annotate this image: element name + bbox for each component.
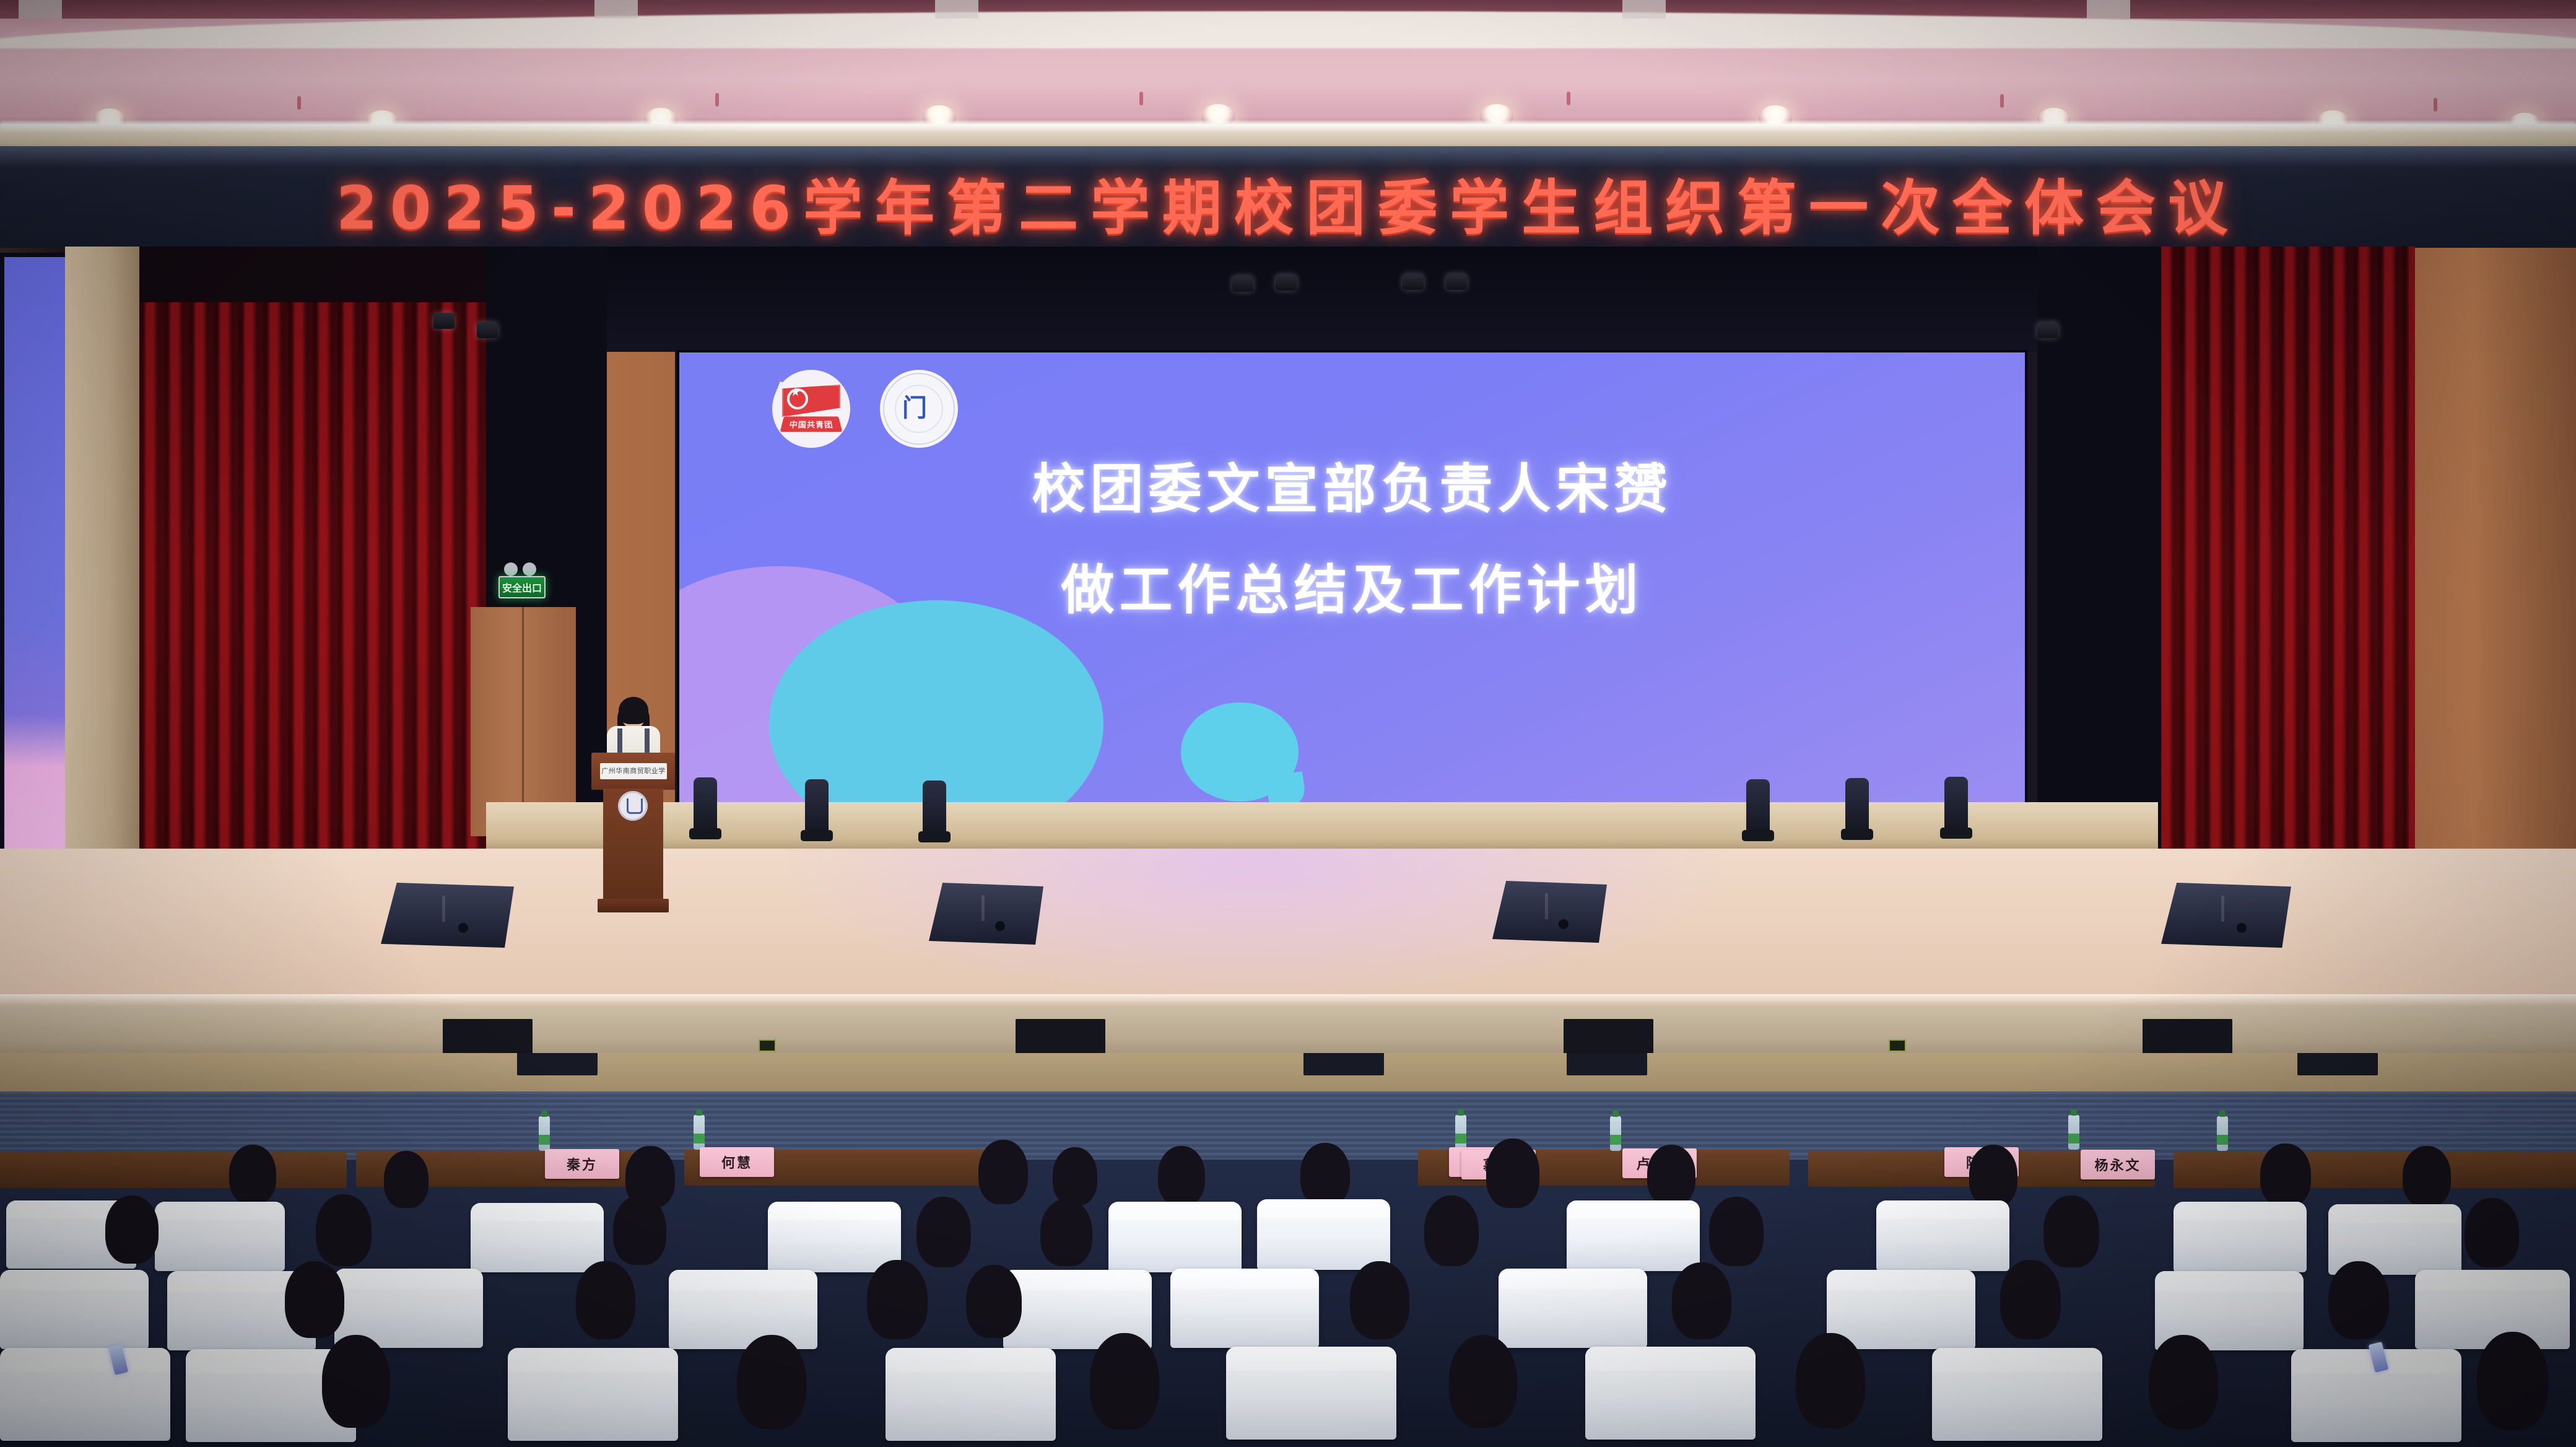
attendee-head <box>1424 1196 1479 1266</box>
truss-spotlight <box>1446 274 1467 290</box>
stage-back-skirt <box>486 802 2158 855</box>
seat-highlight <box>2173 1202 2307 1220</box>
attendee-head <box>316 1194 372 1266</box>
seat-highlight <box>471 1203 604 1221</box>
curtain-header-left <box>139 247 486 302</box>
university-seal-emblem-icon: 门 <box>880 370 958 448</box>
attendee-head <box>1709 1197 1764 1266</box>
attendee-head <box>867 1260 928 1339</box>
bottle-cap <box>2071 1109 2077 1116</box>
stage-monitor-speaker <box>2161 883 2291 948</box>
seat[interactable] <box>1108 1202 1242 1272</box>
wall-acoustic-panel <box>1303 1053 1384 1075</box>
emblem-ribbon-label: 中国共青团 <box>780 419 842 430</box>
apron-power-outlet[interactable] <box>1889 1039 1906 1052</box>
seat-highlight <box>2155 1271 2304 1292</box>
seat-highlight <box>1876 1200 2009 1219</box>
emergency-lamp-icon <box>523 562 536 576</box>
ceiling-fixture <box>297 96 301 110</box>
emergency-lamp-icon <box>504 562 518 576</box>
stage-front-edge <box>0 994 2576 1008</box>
seat[interactable] <box>0 1270 149 1349</box>
attendee-head <box>1672 1262 1731 1339</box>
water-bottle <box>539 1116 550 1151</box>
auditorium-scene: 2025-2026学年第二学期校团委学生组织第一次全体会议 中国共青团 <box>0 0 2576 1447</box>
attendee-head <box>285 1261 344 1338</box>
seat-highlight <box>1585 1347 1756 1371</box>
ceiling-fixture <box>715 93 719 107</box>
star-icon <box>787 388 808 409</box>
seat[interactable] <box>1567 1200 1700 1271</box>
exit-sign: 安全出口 <box>498 576 546 598</box>
seat[interactable] <box>1170 1269 1319 1348</box>
communist-youth-league-emblem-icon: 中国共青团 <box>772 370 850 448</box>
attendee-head <box>2000 1260 2061 1339</box>
attendee-head <box>1053 1147 1097 1205</box>
ceiling-panel <box>19 0 62 19</box>
attendee-head <box>229 1145 276 1204</box>
attendee-head <box>1158 1146 1205 1205</box>
screen-title-line-1: 校团委文宣部负责人宋赟 <box>679 445 2025 523</box>
emergency-light-pair <box>504 562 537 576</box>
seat-highlight <box>885 1348 1056 1372</box>
seat-highlight <box>669 1270 817 1290</box>
podium-base <box>598 899 669 912</box>
attendee-head <box>2043 1196 2099 1267</box>
attendee-head <box>2260 1143 2311 1207</box>
stage-masking-top <box>486 247 2158 352</box>
attendee-head <box>2149 1335 2218 1429</box>
seat-highlight <box>334 1269 483 1289</box>
ceiling-fixture <box>2434 98 2437 111</box>
bottle-cap <box>2219 1111 2226 1117</box>
main-led-display: 中国共青团 门 校团委文宣部负责人宋赟 做工作总结及工作计划 <box>677 350 2027 807</box>
seat[interactable] <box>508 1348 678 1441</box>
speaker-port <box>2237 923 2247 933</box>
name-card: 秦方 <box>545 1149 619 1179</box>
seat[interactable] <box>1585 1347 1756 1440</box>
seat-highlight <box>0 1348 170 1372</box>
attendee-head <box>613 1196 666 1265</box>
attendee-head <box>1350 1261 1409 1339</box>
wall-acoustic-panel <box>1567 1053 1647 1075</box>
attendee-head <box>1090 1333 1159 1430</box>
bottle-cap <box>696 1109 702 1116</box>
speaker-slot <box>1545 893 1548 919</box>
attendee-head <box>978 1140 1028 1204</box>
speaker-port <box>1559 919 1569 929</box>
ceiling-panel <box>1622 0 1666 19</box>
ceiling-fixture <box>1139 92 1143 105</box>
seat[interactable] <box>1226 1347 1396 1440</box>
ceiling-panel <box>935 0 978 19</box>
speaker-slot <box>2221 896 2224 922</box>
seat-highlight <box>2415 1270 2570 1290</box>
seat-highlight <box>508 1348 678 1372</box>
attendee-head <box>1486 1139 1539 1208</box>
banner-title: 2025-2026学年第二学期校团委学生组织第一次全体会议 <box>0 160 2576 246</box>
speaker-hair <box>619 697 648 724</box>
truss-spotlight <box>1276 274 1297 291</box>
podium-university-emblem-icon <box>618 791 648 821</box>
flag-pole-icon <box>775 382 783 394</box>
speaker-port <box>458 923 468 933</box>
lectern-podium: 广州华南商贸职业学院 <box>591 753 675 914</box>
screen-title-block: 校团委文宣部负责人宋赟 做工作总结及工作计划 <box>679 445 2025 624</box>
attendee-head <box>384 1151 429 1208</box>
screen-title-line-2: 做工作总结及工作计划 <box>679 546 2025 624</box>
seat-highlight <box>1827 1270 1975 1290</box>
seat[interactable] <box>155 1202 285 1271</box>
truss-spotlight <box>1403 274 1424 290</box>
event-banner: 2025-2026学年第二学期校团委学生组织第一次全体会议 <box>0 146 2576 251</box>
seat[interactable] <box>1932 1348 2102 1441</box>
stage-curtain-left <box>139 247 486 943</box>
wall-acoustic-panel <box>2297 1053 2378 1075</box>
seat[interactable] <box>1876 1200 2009 1271</box>
seal-gate-glyph: 门 <box>902 396 936 424</box>
wall-acoustic-panel <box>517 1053 598 1075</box>
attendee-head <box>2465 1198 2519 1267</box>
ceiling-panel <box>594 0 638 19</box>
attendee-head <box>1449 1335 1517 1428</box>
seat-highlight <box>2328 1204 2461 1223</box>
moving-head-light <box>694 777 717 833</box>
speaker-slot <box>981 895 985 921</box>
front-row-table <box>2173 1152 2576 1188</box>
seat[interactable] <box>1499 1269 1647 1348</box>
seat-highlight <box>1257 1199 1390 1218</box>
name-card: 何慧 <box>700 1147 774 1177</box>
attendee-head <box>1040 1199 1092 1266</box>
attendee-head <box>966 1265 1022 1338</box>
seat-highlight <box>1226 1347 1396 1371</box>
moving-head-light <box>1845 778 1869 834</box>
seat[interactable] <box>471 1203 604 1272</box>
audience-carpet <box>0 1091 2576 1160</box>
speaker-port <box>995 921 1005 931</box>
seat[interactable] <box>0 1348 170 1441</box>
seat[interactable] <box>1827 1270 1975 1349</box>
truss-spotlight <box>477 322 498 338</box>
stage-monitor-speaker <box>381 883 514 948</box>
attendee-head <box>2477 1332 2548 1430</box>
name-card: 杨永文 <box>2081 1150 2155 1179</box>
seat[interactable] <box>1257 1199 1390 1270</box>
water-bottle <box>1455 1115 1466 1150</box>
attendee-head <box>737 1335 806 1429</box>
stage-monitor-speaker <box>1492 881 1607 943</box>
attendee-head <box>322 1335 390 1428</box>
attendee-head <box>1796 1333 1865 1428</box>
side-display-screen <box>0 253 76 915</box>
attendee-head <box>2403 1146 2451 1207</box>
moving-head-light <box>1746 779 1770 835</box>
screen-logo-group: 中国共青团 门 <box>772 370 958 448</box>
ceiling-fixture <box>1567 92 1570 105</box>
apron-power-outlet[interactable] <box>759 1039 776 1052</box>
seat[interactable] <box>768 1202 901 1272</box>
audience-back-wall <box>0 1053 2576 1096</box>
ribbon-banner-icon: 中国共青团 <box>780 416 843 432</box>
bottle-cap <box>541 1111 547 1117</box>
attendee-head <box>1969 1145 2017 1207</box>
seat[interactable] <box>669 1270 817 1349</box>
water-bottle <box>2217 1116 2228 1151</box>
seat-highlight <box>1003 1270 1152 1290</box>
front-row-table <box>0 1152 347 1188</box>
truss-spotlight <box>1232 276 1253 292</box>
attendee-head <box>1647 1145 1695 1205</box>
ceiling-panel <box>2087 0 2130 19</box>
attendee-head <box>1300 1143 1350 1206</box>
seat-highlight <box>0 1270 149 1290</box>
truss-spotlight <box>433 313 455 329</box>
seat-highlight <box>1108 1202 1242 1220</box>
stage-monitor-speaker <box>929 883 1043 945</box>
attendee-head <box>916 1197 971 1267</box>
attendee-head <box>2328 1261 2389 1339</box>
seat-highlight <box>1499 1269 1647 1289</box>
left-pillar <box>65 247 139 925</box>
seat-highlight <box>768 1202 901 1220</box>
seat[interactable] <box>2173 1202 2307 1272</box>
seat[interactable] <box>885 1348 1056 1441</box>
seat-highlight <box>155 1202 285 1220</box>
water-bottle <box>2068 1115 2079 1150</box>
attendee-head <box>105 1196 159 1264</box>
moving-head-light <box>1944 777 1968 833</box>
truss-spotlight <box>2037 322 2058 338</box>
moving-head-light <box>805 779 829 835</box>
podium-nameplate: 广州华南商贸职业学院 <box>600 763 667 779</box>
moving-head-light <box>923 780 946 836</box>
seat-highlight <box>1170 1269 1319 1289</box>
seat[interactable] <box>2415 1270 2570 1349</box>
bottle-cap <box>1612 1111 1619 1117</box>
water-bottle <box>694 1115 705 1150</box>
ceiling-fixture <box>2000 94 2004 108</box>
seat-highlight <box>1932 1348 2102 1372</box>
attendee-head <box>576 1261 635 1339</box>
speaker-slot <box>442 896 445 922</box>
audience-area: 秦方 何慧 李曼 陈珠 慕晴 卢慧芳 杨永文 <box>0 1053 2576 1447</box>
bottle-cap <box>1458 1109 1464 1116</box>
header-light-strip <box>0 121 2576 131</box>
water-bottle <box>1610 1116 1621 1151</box>
seat-highlight <box>1567 1200 1700 1219</box>
